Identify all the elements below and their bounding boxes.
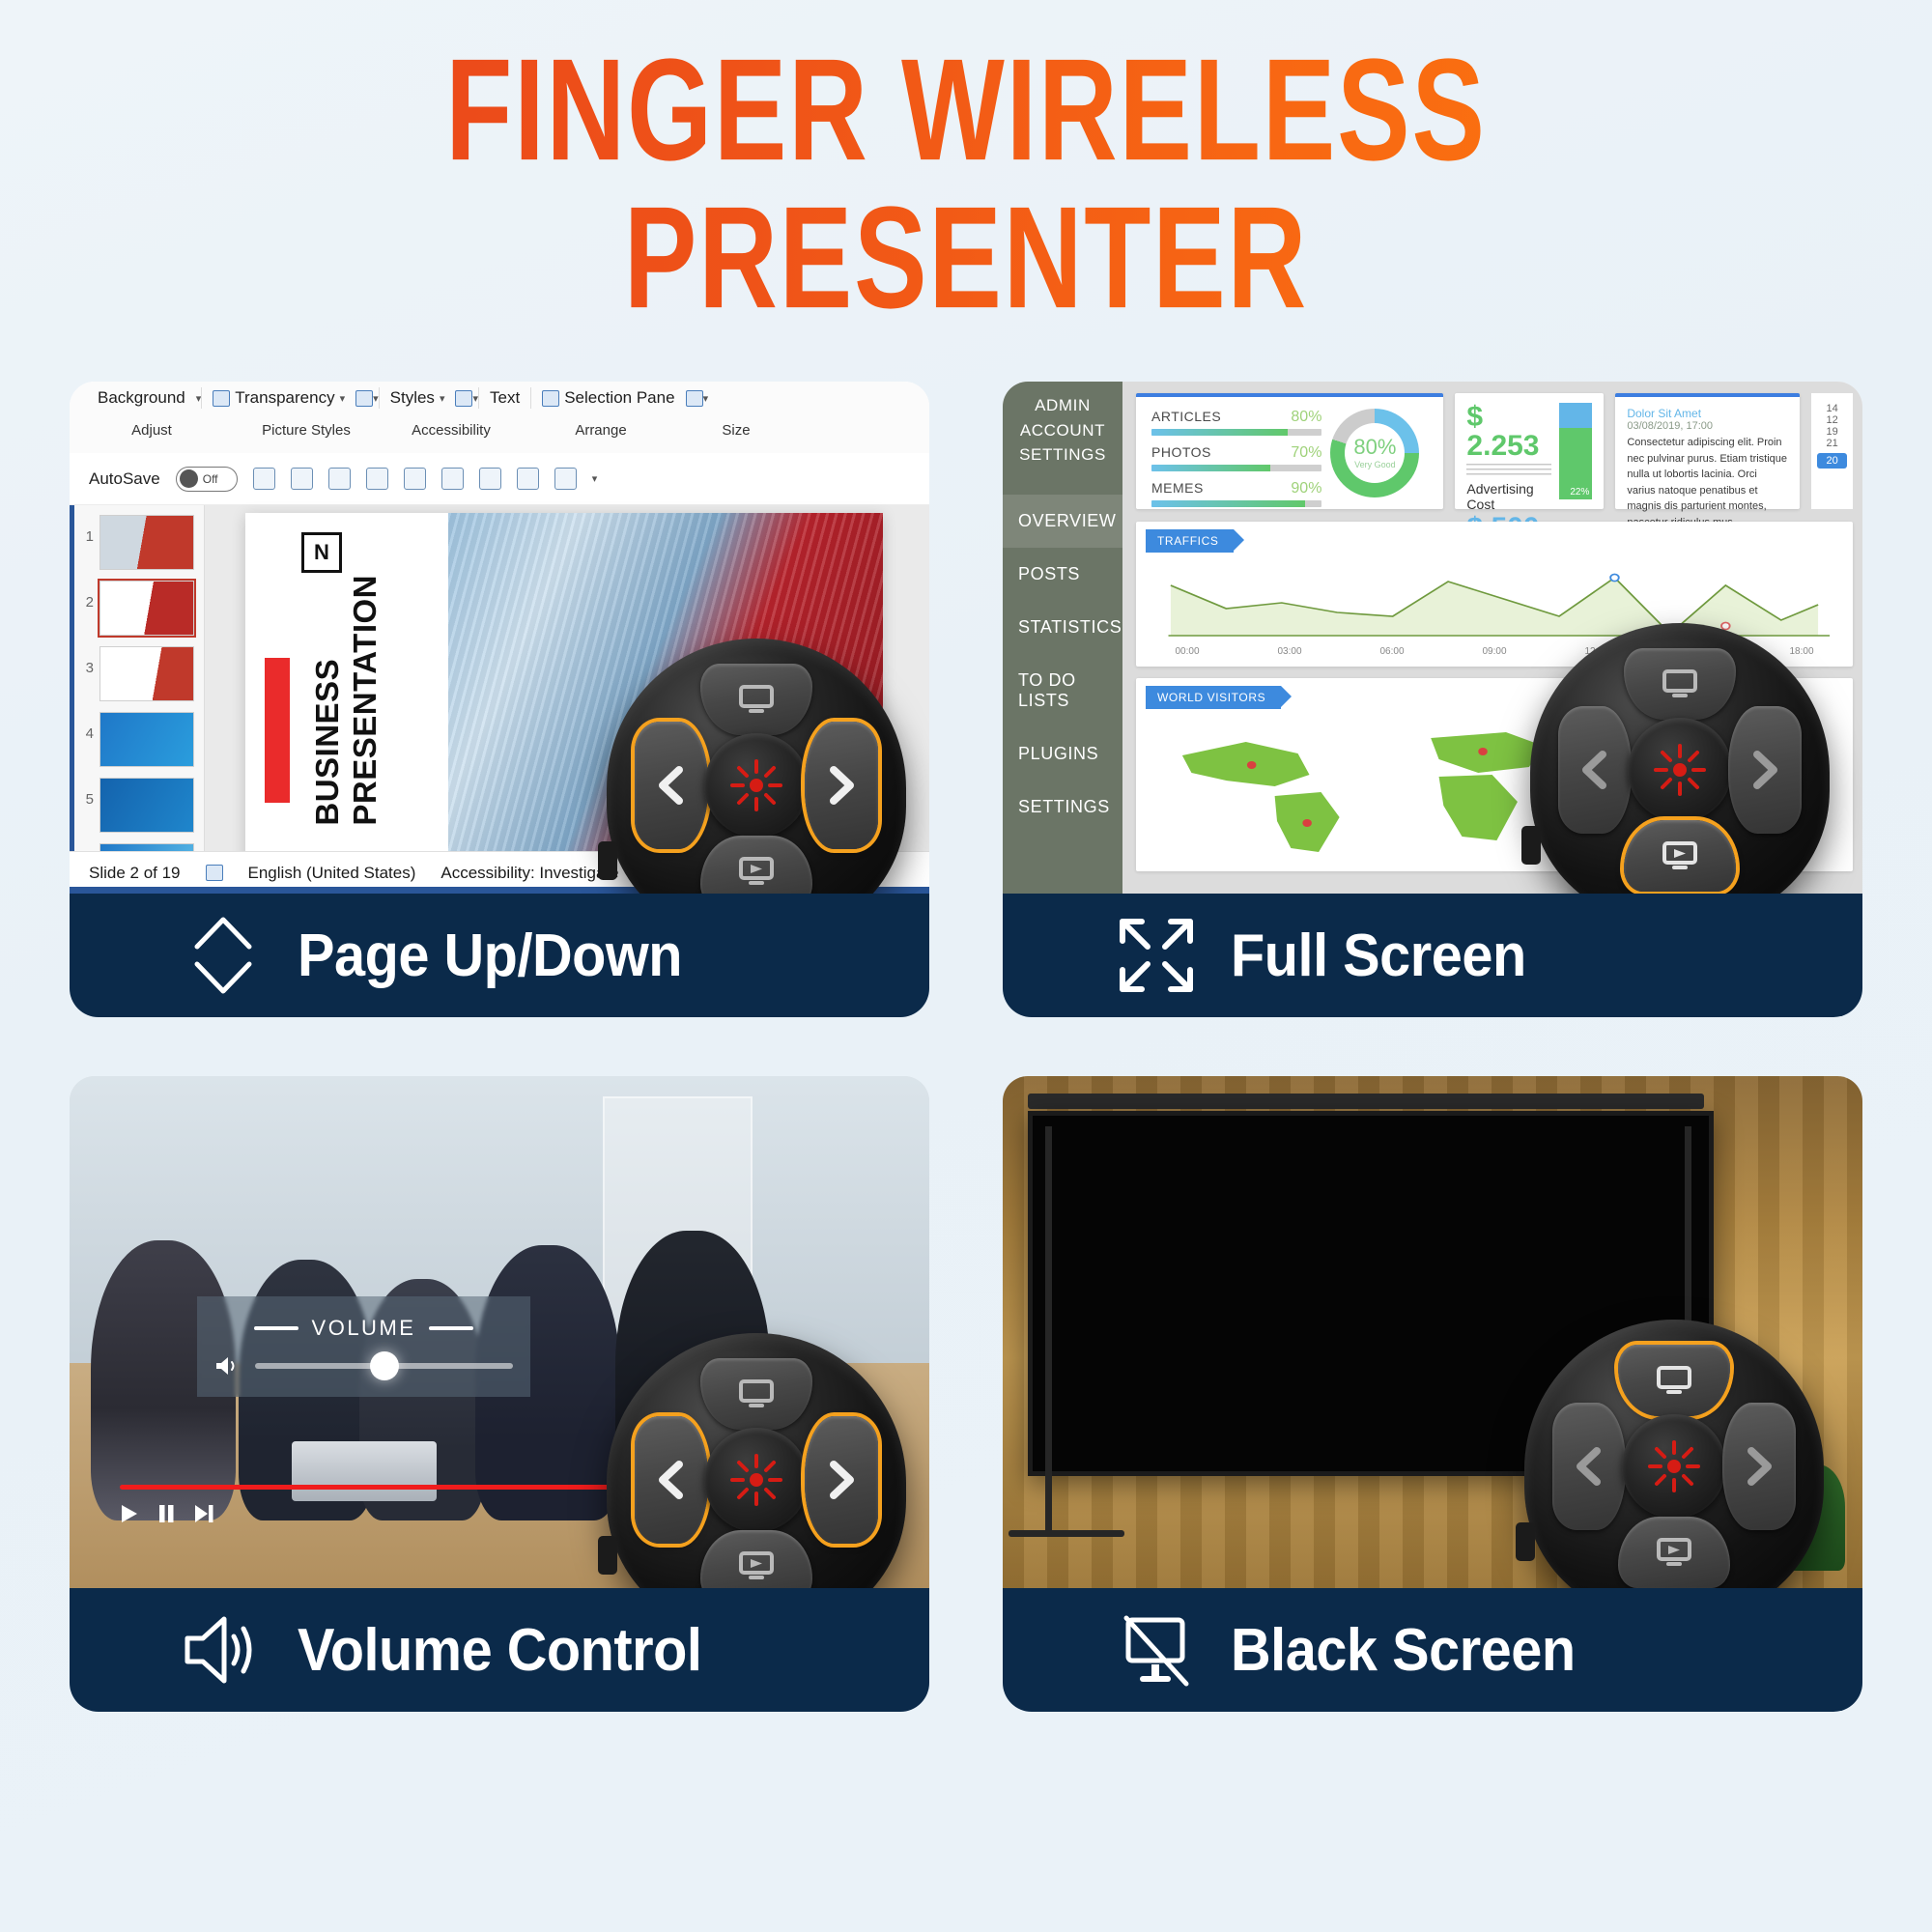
- next-track-icon[interactable]: [193, 1503, 214, 1524]
- expand-arrows-icon: [1115, 914, 1198, 997]
- chevron-right-icon: [1742, 1444, 1776, 1489]
- remote-button-slideshow[interactable]: [700, 836, 812, 894]
- remote-button-screen[interactable]: [700, 664, 812, 735]
- play-icon[interactable]: [120, 1503, 139, 1524]
- remote-button-slideshow[interactable]: [700, 1530, 812, 1588]
- monitor-icon: [737, 684, 776, 715]
- chevron-right-icon: [824, 1458, 859, 1502]
- panel-label-text: Black Screen: [1231, 1616, 1576, 1685]
- title-line-1: FINGER WIRELESS: [77, 44, 1855, 178]
- notes-icon[interactable]: [206, 865, 223, 881]
- laser-pointer-icon: [1644, 1436, 1704, 1496]
- slide-thumbnail[interactable]: [99, 581, 194, 636]
- donut-center: 80% Very Good: [1345, 423, 1405, 483]
- axis-tick: 00:00: [1175, 646, 1199, 657]
- advertising-cost-label: Advertising Cost: [1466, 481, 1551, 512]
- transparency-icon: [213, 390, 230, 407]
- sidebar-item-settings[interactable]: SETTINGS: [1003, 781, 1122, 834]
- feed-item-body: Consectetur adipiscing elit. Proin nec p…: [1627, 435, 1788, 530]
- list-item[interactable]: 5: [74, 778, 204, 833]
- remote-button-previous[interactable]: [635, 722, 708, 849]
- rotate-icon[interactable]: [686, 390, 703, 407]
- remote-button-slideshow[interactable]: [1618, 1517, 1730, 1588]
- remote-button-laser[interactable]: [704, 1428, 809, 1532]
- accessibility-status[interactable]: Accessibility: Investigate: [440, 864, 618, 883]
- autosave-label: AutoSave: [89, 469, 160, 489]
- feed-item-title[interactable]: Dolor Sit Amet: [1627, 407, 1788, 420]
- ribbon-group-arrange: Arrange: [524, 422, 678, 439]
- progress-fill: [1151, 429, 1288, 436]
- volume-slider[interactable]: [255, 1363, 513, 1369]
- right-number-badge[interactable]: 20: [1817, 453, 1847, 469]
- save-icon[interactable]: [253, 468, 275, 490]
- screen-stand-leg: [1045, 1126, 1052, 1532]
- panel-label-text: Page Up/Down: [298, 922, 682, 990]
- ribbon-background[interactable]: Background: [87, 388, 196, 408]
- remote-side-button[interactable]: [598, 841, 617, 880]
- volume-header: VOLUME: [197, 1316, 530, 1341]
- axis-tick: 03:00: [1277, 646, 1301, 657]
- panel-label-full-screen: Full Screen: [1003, 894, 1862, 1017]
- monitor-slash-icon: [1115, 1608, 1198, 1691]
- chevron-down-icon[interactable]: ▾: [703, 392, 709, 405]
- progress-track: [1151, 465, 1321, 471]
- panel-label-text: Volume Control: [298, 1616, 701, 1685]
- laser-pointer-icon: [1650, 740, 1710, 800]
- traffics-chart-label: TRAFFICS: [1146, 529, 1234, 553]
- monitor-icon: [737, 1378, 776, 1409]
- decorative-line: [254, 1326, 298, 1330]
- stat-label: ARTICLES: [1151, 409, 1221, 424]
- remote-button-next[interactable]: [805, 722, 878, 849]
- right-number: 12: [1811, 414, 1853, 426]
- button-pad: [1552, 1345, 1796, 1588]
- duplicate-icon[interactable]: [554, 468, 577, 490]
- list-item[interactable]: 1: [74, 515, 204, 570]
- panel-label-black-screen: Black Screen: [1003, 1588, 1862, 1712]
- presenter-remote[interactable]: [1530, 623, 1830, 894]
- remote-button-next[interactable]: [1728, 706, 1802, 834]
- list-item[interactable]: 6: [74, 843, 204, 851]
- crop-icon[interactable]: [355, 390, 373, 407]
- stat-percent: 70%: [1291, 444, 1321, 462]
- open-icon[interactable]: [366, 468, 388, 490]
- screen-stand-foot: [1009, 1530, 1124, 1537]
- presenter-remote[interactable]: [607, 1333, 906, 1588]
- slide-thumbnail[interactable]: [99, 646, 194, 701]
- button-pad: [635, 1358, 878, 1588]
- donut-percent: 80%: [1353, 437, 1396, 458]
- stat-row-photos: PHOTOS 70%: [1151, 444, 1321, 471]
- toggle-knob: [180, 469, 198, 488]
- remote-button-next[interactable]: [1722, 1403, 1796, 1530]
- spellcheck-icon[interactable]: [479, 468, 501, 490]
- remote-button-slideshow[interactable]: [1624, 820, 1736, 892]
- ppt-ribbon: Background ▾ Transparency ▾ ▾ Styles ▾: [70, 382, 929, 454]
- slide-title: BUSINESSPRESENTATION: [309, 536, 425, 865]
- page-title: FINGER WIRELESS PRESENTER: [0, 56, 1932, 313]
- pause-icon[interactable]: [156, 1503, 176, 1524]
- sidebar-item-statistics[interactable]: STATISTICS: [1003, 601, 1122, 654]
- panel-media-powerpoint: Background ▾ Transparency ▾ ▾ Styles ▾: [70, 382, 929, 894]
- revenue-bar-percent: 22%: [1570, 487, 1589, 497]
- remote-button-screen[interactable]: [1624, 648, 1736, 720]
- right-number: 14: [1811, 403, 1853, 414]
- ribbon-text[interactable]: Text: [479, 388, 530, 408]
- undo-icon[interactable]: [291, 468, 313, 490]
- stat-row-memes: MEMES 90%: [1151, 480, 1321, 507]
- sidebar-header-line2: ACCOUNT SETTINGS: [1003, 418, 1122, 468]
- axis-tick: 06:00: [1379, 646, 1404, 657]
- chevron-left-icon: [654, 1458, 689, 1502]
- selection-pane-icon: [542, 390, 559, 407]
- world-visitors-label: WORLD VISITORS: [1146, 686, 1281, 709]
- volume-overlay: VOLUME: [197, 1296, 530, 1397]
- list-item[interactable]: 3: [74, 646, 204, 701]
- start-slideshow-icon[interactable]: [517, 468, 539, 490]
- slide-accent-bar: [265, 658, 290, 803]
- new-icon[interactable]: [404, 468, 426, 490]
- ribbon-group-adjust: Adjust: [70, 422, 234, 439]
- button-pad: [635, 664, 878, 894]
- remote-button-previous[interactable]: [635, 1416, 708, 1544]
- axis-tick: 09:00: [1482, 646, 1506, 657]
- sidebar-item-overview[interactable]: OVERVIEW: [1003, 495, 1122, 548]
- autosave-toggle[interactable]: Off: [176, 467, 238, 492]
- presenter-remote[interactable]: [1524, 1320, 1824, 1588]
- slideshow-play-icon: [1655, 1537, 1693, 1568]
- panel-media-meeting: VOLUME: [70, 1076, 929, 1588]
- list-item[interactable]: 2: [74, 581, 204, 636]
- feed-item-date: 03/08/2019, 17:00: [1627, 420, 1788, 432]
- revenue-value: $ 2.253: [1466, 403, 1551, 461]
- button-pad: [1558, 648, 1802, 892]
- remote-side-button[interactable]: [598, 1536, 617, 1575]
- print-icon[interactable]: [441, 468, 464, 490]
- title-line-2: PRESENTER: [77, 192, 1855, 326]
- placeholder-text: [1466, 464, 1551, 475]
- right-number: 19: [1811, 426, 1853, 438]
- stats-card: ARTICLES 80% PHOTOS 70%: [1136, 393, 1443, 509]
- chevron-right-icon: [1747, 748, 1782, 792]
- ribbon-selection-pane[interactable]: Selection Pane: [531, 388, 685, 408]
- chevron-left-icon: [1577, 748, 1612, 792]
- sidebar-item-to-do-lists[interactable]: TO DO LISTS: [1003, 654, 1122, 727]
- panel-label-page-up-down: Page Up/Down: [70, 894, 929, 1017]
- ribbon-styles[interactable]: Styles ▾: [380, 388, 456, 408]
- laser-pointer-icon: [726, 1450, 786, 1510]
- ribbon-group-size: Size: [678, 422, 794, 439]
- sidebar-header: ADMIN ACCOUNT SETTINGS: [1003, 393, 1122, 495]
- remote-side-button[interactable]: [1516, 1522, 1535, 1561]
- presenter-remote[interactable]: [607, 639, 906, 894]
- language-label[interactable]: English (United States): [248, 864, 416, 883]
- revenue-bar: 22%: [1559, 403, 1592, 499]
- remote-button-laser[interactable]: [704, 733, 809, 838]
- sidebar-item-plugins[interactable]: PLUGINS: [1003, 727, 1122, 781]
- picture-effects-icon[interactable]: [455, 390, 472, 407]
- laser-pointer-icon: [726, 755, 786, 815]
- stat-percent: 80%: [1291, 409, 1321, 426]
- remote-button-previous[interactable]: [1558, 706, 1632, 834]
- slide-thumbnail[interactable]: [99, 778, 194, 833]
- slideshow-play-icon: [737, 1550, 776, 1581]
- revenue-card: $ 2.253 Advertising Cost $ 500 22%: [1455, 393, 1604, 509]
- redo-icon[interactable]: [328, 468, 351, 490]
- progress-fill: [1151, 500, 1305, 507]
- slide-thumbnail[interactable]: [99, 515, 194, 570]
- remote-button-previous[interactable]: [1552, 1403, 1626, 1530]
- remote-button-next[interactable]: [805, 1416, 878, 1544]
- remote-button-screen[interactable]: [700, 1358, 812, 1430]
- dashboard-sidebar: ADMIN ACCOUNT SETTINGS OVERVIEW POSTS ST…: [1003, 382, 1122, 894]
- stats-list: ARTICLES 80% PHOTOS 70%: [1151, 409, 1321, 497]
- speaker-icon: [214, 1354, 240, 1378]
- stat-label: MEMES: [1151, 480, 1204, 496]
- chevron-down-icon[interactable]: ▾: [440, 392, 445, 405]
- feature-panel-page-up-down: Background ▾ Transparency ▾ ▾ Styles ▾: [70, 382, 929, 1017]
- sidebar-item-posts[interactable]: POSTS: [1003, 548, 1122, 601]
- list-item[interactable]: 4: [74, 712, 204, 767]
- chevron-left-icon: [654, 763, 689, 808]
- progress-fill: [1151, 465, 1270, 471]
- ribbon-group-picture-styles: Picture Styles: [234, 422, 379, 439]
- dashboard-right-column: 14 12 19 21 20: [1811, 393, 1853, 509]
- slide-counter[interactable]: Slide 2 of 19: [89, 864, 181, 883]
- projector-screen-rail: [1028, 1094, 1704, 1109]
- ppt-quick-access-toolbar: AutoSave Off ▾: [70, 453, 929, 505]
- activity-feed-card: Dolor Sit Amet 03/08/2019, 17:00 Consect…: [1615, 393, 1800, 509]
- chevron-down-icon[interactable]: ▾: [592, 472, 598, 485]
- ribbon-group-accessibility: Accessibility: [379, 422, 524, 439]
- slideshow-play-icon: [1661, 840, 1699, 871]
- donut-chart: 80% Very Good: [1330, 409, 1419, 497]
- slide-thumbnail[interactable]: [99, 843, 194, 851]
- volume-title: VOLUME: [312, 1316, 416, 1341]
- panel-media-projector: [1003, 1076, 1862, 1588]
- donut-chart-wrap: 80% Very Good: [1321, 409, 1428, 497]
- slideshow-play-icon: [737, 856, 776, 887]
- progress-track: [1151, 429, 1321, 436]
- autosave-state: Off: [203, 472, 218, 486]
- stat-label: PHOTOS: [1151, 444, 1211, 460]
- volume-slider-handle[interactable]: [370, 1351, 399, 1380]
- progress-track: [1151, 500, 1321, 507]
- remote-button-laser[interactable]: [1622, 1414, 1726, 1519]
- sidebar-header-line1: ADMIN: [1003, 393, 1122, 418]
- feature-panel-black-screen: Black Screen: [1003, 1076, 1862, 1712]
- chevron-down-icon[interactable]: ▾: [340, 392, 346, 405]
- panel-label-volume-control: Volume Control: [70, 1588, 929, 1712]
- panel-label-text: Full Screen: [1231, 922, 1526, 990]
- decorative-line: [429, 1326, 473, 1330]
- stat-row-articles: ARTICLES 80%: [1151, 409, 1321, 436]
- stat-percent: 90%: [1291, 480, 1321, 497]
- slide-thumbnail-pane[interactable]: 1 2 3 4 5: [70, 505, 205, 851]
- monitor-icon: [1661, 668, 1699, 699]
- remote-side-button[interactable]: [1521, 826, 1541, 865]
- volume-slider-row[interactable]: [197, 1354, 530, 1378]
- chevron-left-icon: [1572, 1444, 1606, 1489]
- donut-rating: Very Good: [1354, 460, 1396, 469]
- panel-media-dashboard: ADMIN ACCOUNT SETTINGS OVERVIEW POSTS ST…: [1003, 382, 1862, 894]
- chevron-right-icon: [824, 763, 859, 808]
- speaker-waves-icon: [182, 1608, 265, 1691]
- dashboard-top-row: ARTICLES 80% PHOTOS 70%: [1136, 393, 1853, 509]
- remote-button-laser[interactable]: [1628, 718, 1732, 822]
- monitor-icon: [1655, 1365, 1693, 1396]
- chevron-up-down-icon: [182, 914, 265, 997]
- ribbon-transparency[interactable]: Transparency ▾: [202, 388, 355, 408]
- feature-panel-full-screen: ADMIN ACCOUNT SETTINGS OVERVIEW POSTS ST…: [1003, 382, 1862, 1017]
- slide-thumbnail[interactable]: [99, 712, 194, 767]
- remote-button-screen[interactable]: [1618, 1345, 1730, 1416]
- feature-panel-volume-control: VOLUME: [70, 1076, 929, 1712]
- right-number: 21: [1811, 438, 1853, 449]
